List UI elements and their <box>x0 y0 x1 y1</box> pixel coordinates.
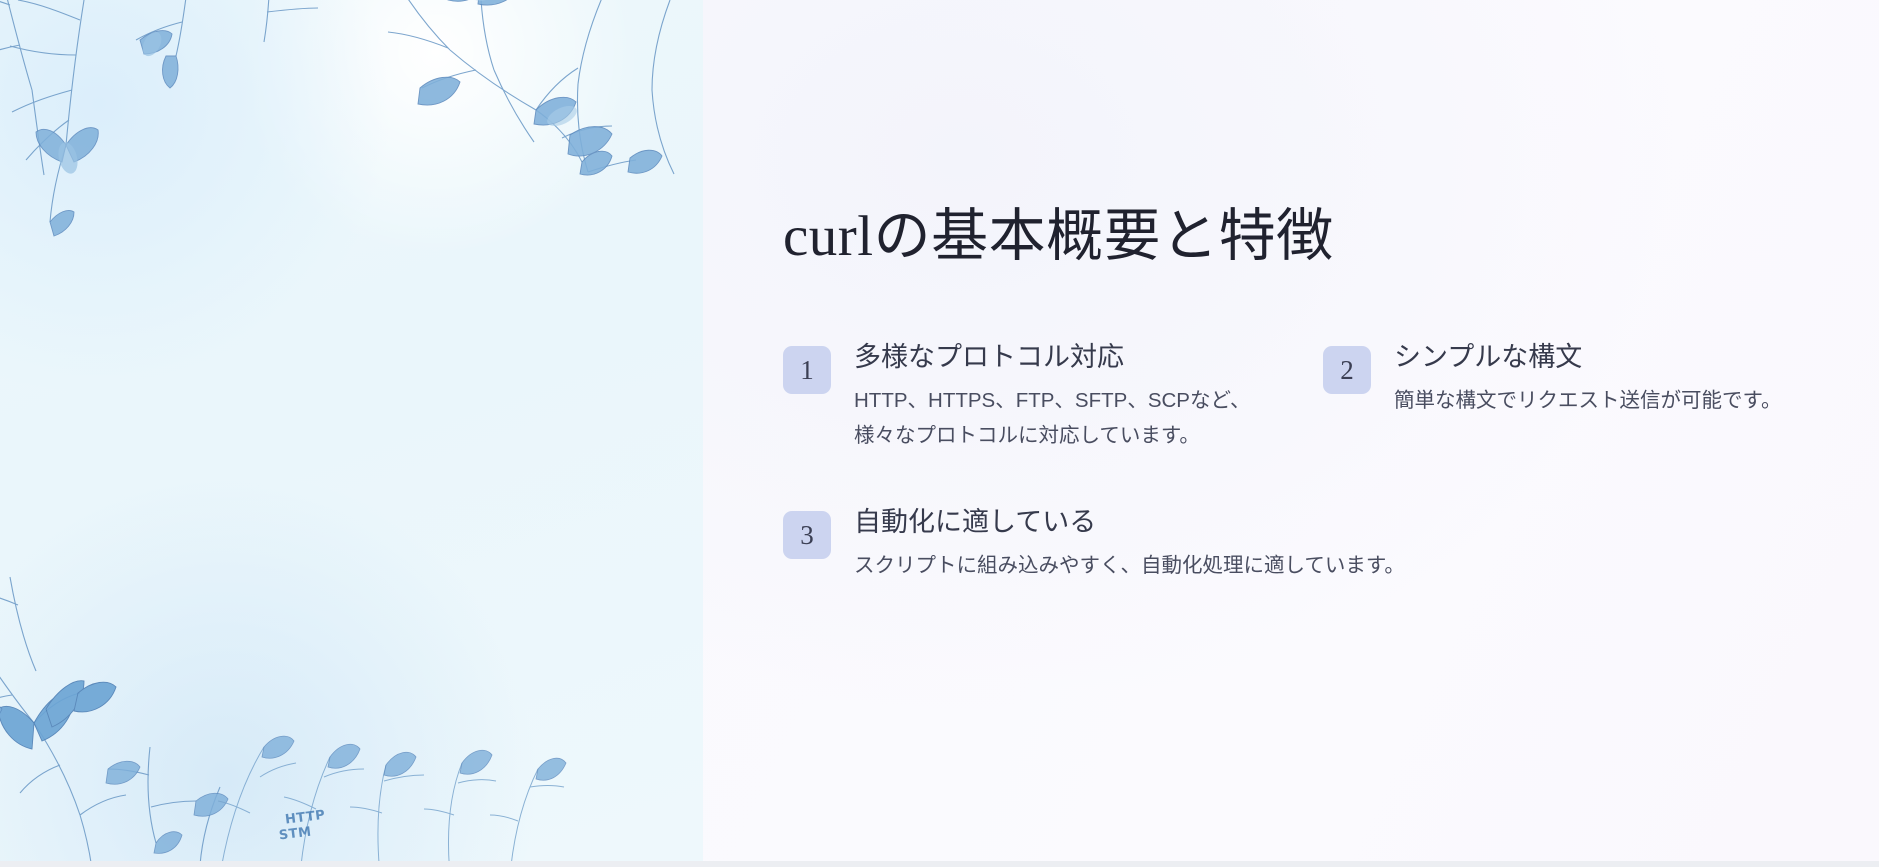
feature-row-bottom: 3 自動化に適している スクリプトに組み込みやすく、自動化処理に適しています。 <box>783 507 1793 583</box>
feature-text-1: 多様なプロトコル対応 HTTP、HTTPS、FTP、SFTP、SCPなど、様々な… <box>854 342 1258 453</box>
feature-row-spacer <box>783 453 1793 507</box>
feature-row-top: 1 多様なプロトコル対応 HTTP、HTTPS、FTP、SFTP、SCPなど、様… <box>783 342 1793 453</box>
botanical-decoration-top-right <box>330 0 703 300</box>
feature-title-2: シンプルな構文 <box>1394 342 1804 374</box>
page-title: curlの基本概要と特徴 <box>783 190 1334 272</box>
feature-title-3: 自動化に適している <box>854 507 1754 539</box>
feature-text-2: シンプルな構文 簡単な構文でリクエスト送信が可能です。 <box>1394 342 1804 418</box>
feature-body-3: スクリプトに組み込みやすく、自動化処理に適しています。 <box>854 548 1754 583</box>
content-panel: curlの基本概要と特徴 1 多様なプロトコル対応 HTTP、HTTPS、FTP… <box>703 0 1879 867</box>
feature-text-3: 自動化に適している スクリプトに組み込みやすく、自動化処理に適しています。 <box>854 507 1754 583</box>
feature-item-3: 3 自動化に適している スクリプトに組み込みやすく、自動化処理に適しています。 <box>783 507 1793 583</box>
feature-body-1: HTTP、HTTPS、FTP、SFTP、SCPなど、様々なプロトコルに対応してい… <box>854 383 1258 454</box>
feature-title-1: 多様なプロトコル対応 <box>854 342 1258 374</box>
feature-number-badge-2: 2 <box>1323 346 1371 394</box>
feature-number-badge-3: 3 <box>783 511 831 559</box>
feature-item-1: 1 多様なプロトコル対応 HTTP、HTTPS、FTP、SFTP、SCPなど、様… <box>783 342 1323 453</box>
botanical-decoration-bottom-center <box>180 617 600 867</box>
feature-item-2: 2 シンプルな構文 簡単な構文でリクエスト送信が可能です。 <box>1323 342 1793 453</box>
slide-root: HTTP STM curlの基本概要と特徴 1 多様なプロトコル対応 HTTP、… <box>0 0 1879 867</box>
feature-body-2: 簡単な構文でリクエスト送信が可能です。 <box>1394 383 1804 418</box>
bottom-strip <box>0 861 1879 867</box>
feature-number-badge-1: 1 <box>783 346 831 394</box>
botanical-decoration-top-left <box>0 0 360 360</box>
feature-list: 1 多様なプロトコル対応 HTTP、HTTPS、FTP、SFTP、SCPなど、様… <box>783 342 1793 583</box>
decorative-left-panel: HTTP STM <box>0 0 703 867</box>
